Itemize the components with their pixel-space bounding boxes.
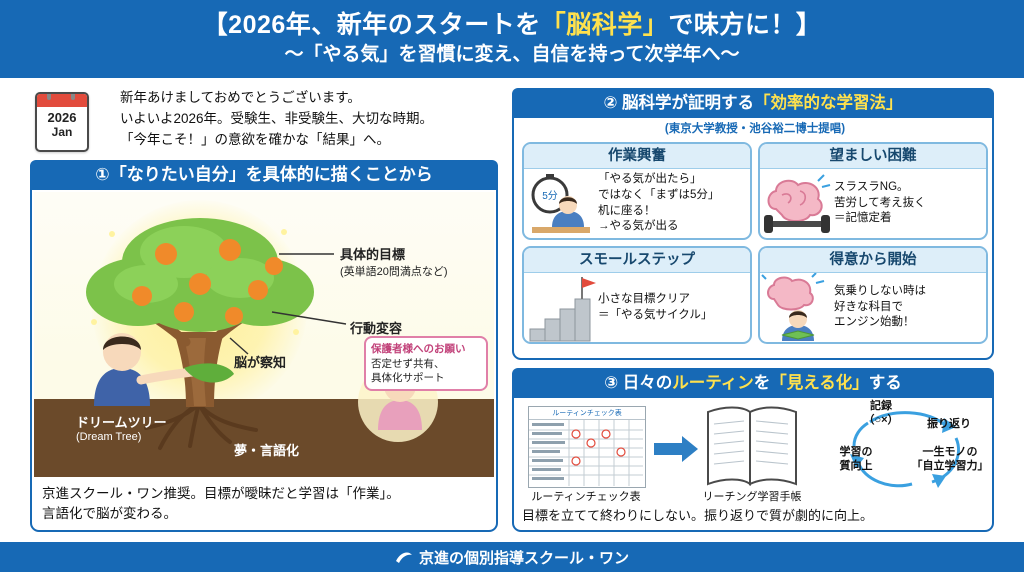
section-3-title-pre: ③ 日々の <box>604 374 672 392</box>
section-3-title-mid: を <box>754 374 771 392</box>
section-1-footer-line-2: 言語化で脳が変わる。 <box>42 504 488 524</box>
notebook-icon <box>704 404 800 488</box>
section-1-title: ①「なりたい自分」を具体的に描くことから <box>30 160 498 190</box>
footer-brand: 京進の個別指導スクール・ワン <box>419 547 629 568</box>
section-1: ①「なりたい自分」を具体的に描くことから <box>30 160 498 532</box>
cycle-label-reflect: 振り返り <box>918 418 980 432</box>
card-1-text: 「やる気が出たら」 ではなく「まずは5分」 机に座る！ →やる気が出る <box>598 172 719 235</box>
card-4-text: 気乗りしない時は 好きな科目で エンジン始動！ <box>834 284 926 332</box>
label-goal-sub: (英単語20問満点など) <box>340 263 448 279</box>
boy-figure <box>94 333 192 406</box>
label-verbalize: 夢・言語化 <box>234 440 299 459</box>
section-2-subtitle: (東京大学教授・池谷裕二博士提唱) <box>514 120 996 136</box>
caption-left: ルーティンチェック表 <box>520 488 652 504</box>
card-nozomashii-konnan: 望ましい困難 スラスラNG。 苦労し <box>758 142 988 240</box>
page-title-pre: 【2026年、新年のスタートを <box>203 11 541 39</box>
label-dream-tree: ドリームツリー (Dream Tree) <box>76 412 167 443</box>
page-title-highlight: 「脳科学」 <box>541 11 669 39</box>
sheet-grid <box>529 420 643 486</box>
caption-right: リーチング学習手帳 <box>690 488 814 504</box>
section-3-title: ③ 日々のルーティンを「見える化」する <box>512 368 994 398</box>
parent-bubble-line-3: 具体化サポート <box>371 371 481 385</box>
page-footer: 京進の個別指導スクール・ワン <box>0 542 1024 572</box>
intro-line-3: 「今年こそ！」の意欲を確かな「結果」へ。 <box>120 130 433 151</box>
stairs-flag-icon <box>524 273 598 342</box>
label-goal: 具体的目標 (英単語20問満点など) <box>340 244 448 279</box>
parent-bubble-line-2: 否定せず共有、 <box>371 357 481 371</box>
page-title-post: で味方に！】 <box>668 11 821 39</box>
section-3: ③ 日々のルーティンを「見える化」する ルーティンチェック表 <box>512 368 994 532</box>
dream-tree-illustration: 具体的目標 (英単語20問満点など) 行動変容 脳が察知 ドリームツリー (Dr… <box>34 192 494 477</box>
section-2-title: ② 脳科学が証明する「効率的な学習法」 <box>512 88 994 118</box>
intro-line-2: いよいよ2026年。受験生、非受験生、大切な時期。 <box>120 109 433 130</box>
card-4-title: 得意から開始 <box>760 248 986 273</box>
intro-text: 新年あけましておめでとうございます。 いよいよ2026年。受験生、非受験生、大切… <box>30 88 498 154</box>
arrow-icon <box>654 436 698 462</box>
intro-line-1: 新年あけましておめでとうございます。 <box>120 88 433 109</box>
card-sagyo-funpun: 作業興奮 5分 「やる気が出たら」 ではな <box>522 142 752 240</box>
label-dream-tree-en: (Dream Tree) <box>76 431 167 443</box>
section-1-footer-line-1: 京進スクール・ワン推奨。目標が曖昧だと学習は「作業」。 <box>42 484 488 504</box>
page-title: 【2026年、新年のスタートを「脳科学」で味方に！】 <box>203 12 822 40</box>
parent-bubble-line-1: 保護者様へのお願い <box>371 342 481 356</box>
cycle-label-record: 記録 （○×） <box>852 400 910 428</box>
section-1-footer: 京進スクール・ワン推奨。目標が曖昧だと学習は「作業」。 言語化で脳が変わる。 <box>42 484 488 525</box>
brain-dumbbell-icon <box>760 169 834 238</box>
page-subtitle: 〜「やる気」を習慣に変え、自信を持って次学年へ〜 <box>284 45 739 66</box>
section-3-title-post: する <box>869 374 902 392</box>
cycle-label-lifelong: 一生モノの 「自立学習力」 <box>910 446 990 474</box>
parent-request-bubble: 保護者様へのお願い 否定せず共有、 具体化サポート <box>364 336 488 391</box>
card-small-step: スモールステップ 小さな目標クリア <box>522 246 752 344</box>
card-1-title: 作業興奮 <box>524 144 750 169</box>
brain-sparkle-icon <box>760 273 834 342</box>
poster: 【2026年、新年のスタートを「脳科学」で味方に！】 〜「やる気」を習慣に変え、… <box>0 0 1024 572</box>
section-2: ② 脳科学が証明する「効率的な学習法」 (東京大学教授・池谷裕二博士提唱) 作業… <box>512 88 994 360</box>
section-3-footer: 目標を立てて終わりにしない。振り返りで質が劇的に向上。 <box>522 507 988 525</box>
page-header: 【2026年、新年のスタートを「脳科学」で味方に！】 〜「やる気」を習慣に変え、… <box>0 0 1024 78</box>
section-3-title-hl-1: ルーティン <box>672 374 754 392</box>
swoosh-icon <box>395 549 413 565</box>
card-3-text: 小さな目標クリア ＝「やる気サイクル」 <box>598 292 712 324</box>
section-2-title-highlight: 「効率的な学習法」 <box>754 94 903 112</box>
sheet-title: ルーティンチェック表 <box>529 407 645 420</box>
card-2-text: スラスラNG。 苦労して考え抜く ＝記憶定着 <box>834 180 926 228</box>
stopwatch-icon: 5分 <box>524 169 598 238</box>
card-3-title: スモールステップ <box>524 248 750 273</box>
card-tokui-kara-kaishi: 得意から開始 気乗りしない時は <box>758 246 988 344</box>
section-2-title-pre: ② 脳科学が証明する <box>603 94 754 112</box>
cycle-label-quality: 学習の 質向上 <box>826 446 886 474</box>
section-3-title-hl-2: 「見える化」 <box>770 374 869 392</box>
svg-text:5分: 5分 <box>542 190 558 202</box>
card-2-title: 望ましい困難 <box>760 144 986 169</box>
label-behavior: 行動変容 <box>350 318 402 337</box>
routine-check-sheet: ルーティンチェック表 <box>528 406 646 488</box>
label-brain-detect: 脳が察知 <box>234 352 286 371</box>
